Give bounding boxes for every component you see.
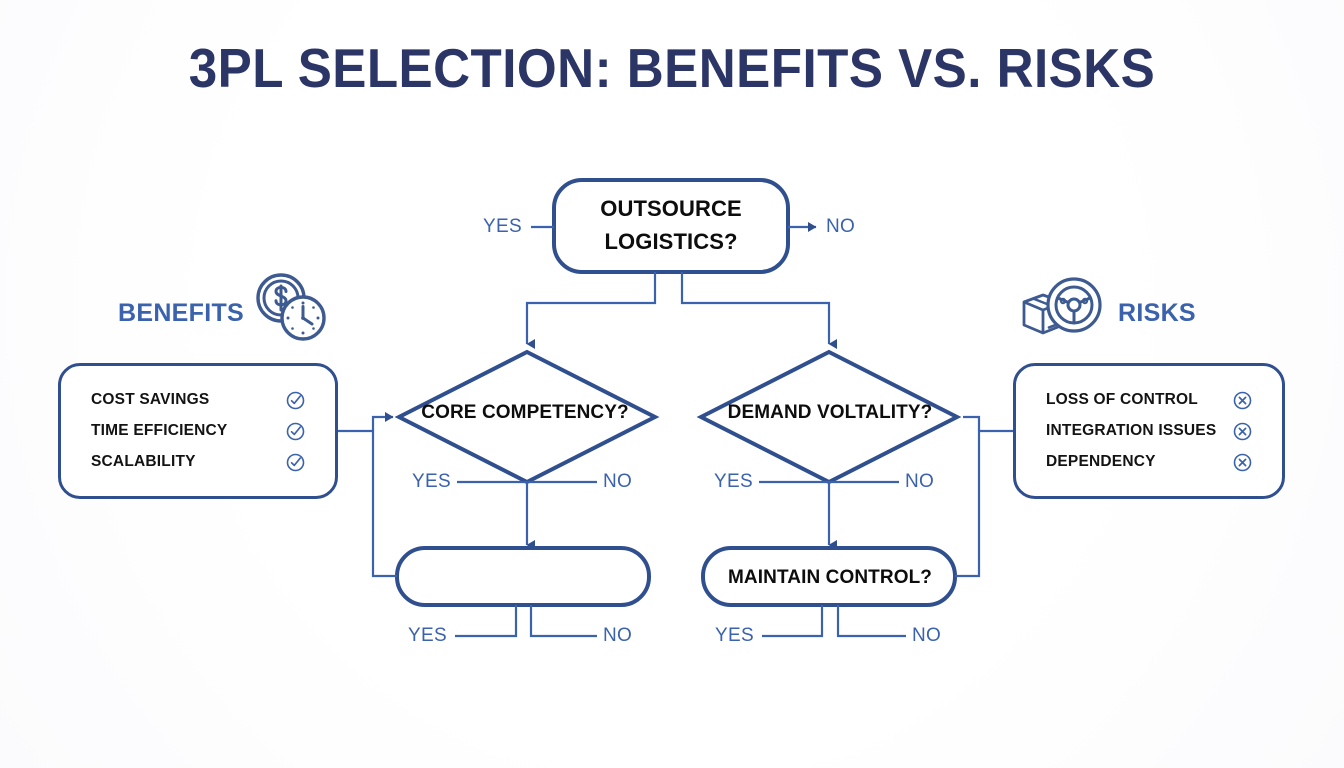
benefits-card[interactable]: COST SAVINGS TIME EFFICIENCY SCALABILITY: [58, 363, 338, 499]
edge-label-root-no: NO: [826, 216, 855, 238]
edge-risks-to-maintain: [955, 431, 1013, 576]
edge-leftbottom-yes: [455, 605, 516, 636]
node-core-shape[interactable]: [399, 352, 655, 482]
benefit-label: SCALABILITY: [91, 453, 196, 471]
edge-label-maintain-yes: YES: [715, 625, 754, 647]
x-circle-icon: [1233, 422, 1252, 441]
x-circle-icon: [1233, 391, 1252, 410]
edge-label-root-yes: YES: [483, 216, 522, 238]
edge-root-to-demand: [682, 272, 829, 344]
coin-clock-icon: [252, 272, 328, 347]
check-circle-icon: [286, 391, 305, 410]
package-steering-wheel-icon: [1012, 272, 1104, 347]
list-item: TIME EFFICIENCY: [91, 416, 305, 447]
edge-root-to-core: [527, 272, 655, 344]
risks-card[interactable]: LOSS OF CONTROL INTEGRATION ISSUES DEPEN…: [1013, 363, 1285, 499]
node-root-shape[interactable]: [554, 180, 788, 272]
edge-benefits-to-leftbottom: [338, 431, 397, 576]
edge-label-leftbottom-yes: YES: [408, 625, 447, 647]
edge-benefits-to-core: [373, 417, 393, 431]
edge-label-demand-no: NO: [905, 471, 934, 493]
list-item: DEPENDENCY: [1046, 447, 1252, 478]
node-maintain-shape[interactable]: [703, 548, 955, 605]
edge-label-demand-yes: YES: [714, 471, 753, 493]
edge-leftbottom-no: [531, 605, 597, 636]
edge-maintain-yes: [762, 605, 822, 636]
risk-label: DEPENDENCY: [1046, 453, 1156, 471]
risk-label: INTEGRATION ISSUES: [1046, 422, 1216, 440]
edge-label-maintain-no: NO: [912, 625, 941, 647]
benefit-label: TIME EFFICIENCY: [91, 422, 227, 440]
edge-label-core-yes: YES: [412, 471, 451, 493]
benefit-label: COST SAVINGS: [91, 391, 209, 409]
edge-maintain-no: [838, 605, 906, 636]
benefits-section-label: BENEFITS: [118, 299, 244, 328]
edge-risks-to-demand: [963, 417, 979, 431]
check-circle-icon: [286, 453, 305, 472]
check-circle-icon: [286, 422, 305, 441]
edge-label-core-no: NO: [603, 471, 632, 493]
list-item: INTEGRATION ISSUES: [1046, 416, 1252, 447]
x-circle-icon: [1233, 453, 1252, 472]
node-left-bottom-shape[interactable]: [397, 548, 649, 605]
list-item: SCALABILITY: [91, 447, 305, 478]
edge-label-leftbottom-no: NO: [603, 625, 632, 647]
node-demand-shape[interactable]: [701, 352, 957, 482]
list-item: LOSS OF CONTROL: [1046, 385, 1252, 416]
risks-section-label: RISKS: [1118, 299, 1196, 328]
list-item: COST SAVINGS: [91, 385, 305, 416]
risk-label: LOSS OF CONTROL: [1046, 391, 1198, 409]
flowchart-canvas: 3PL SELECTION: BENEFITS VS. RISKS: [0, 0, 1344, 768]
